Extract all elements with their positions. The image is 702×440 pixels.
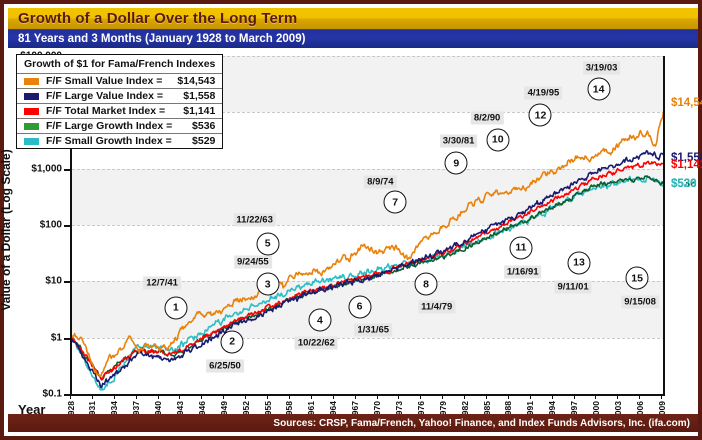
- annotation-marker[interactable]: 15: [626, 267, 649, 290]
- x-tick-mark: [639, 394, 640, 399]
- series-end-label: $529: [671, 178, 697, 190]
- plot-right-border: [663, 56, 665, 394]
- x-tick-mark: [179, 394, 180, 399]
- x-tick-mark: [574, 394, 575, 399]
- annotation-marker[interactable]: 10: [486, 128, 509, 151]
- title-bar: Growth of a Dollar Over the Long Term: [8, 8, 698, 30]
- x-tick-mark: [377, 394, 378, 399]
- annotation-marker[interactable]: 1: [164, 296, 187, 319]
- x-tick-mark: [442, 394, 443, 399]
- annotation-date-label: 9/15/08: [621, 296, 659, 309]
- x-tick-mark: [552, 394, 553, 399]
- x-tick-mark: [661, 394, 662, 399]
- annotation-date-label: 11/4/79: [418, 300, 455, 313]
- annotation-date-label: 4/19/95: [525, 86, 563, 99]
- annotation-marker[interactable]: 5: [256, 232, 279, 255]
- annotation-date-label: 8/9/74: [364, 175, 396, 188]
- chart-area: Value of a Dollar (Log Scale) Year $100,…: [8, 48, 698, 422]
- x-tick-mark: [355, 394, 356, 399]
- x-tick-mark: [398, 394, 399, 399]
- legend-color-swatch: [24, 108, 39, 115]
- series-end-label: $1,141: [671, 159, 702, 171]
- legend-row: F/F Small Growth Index =$529: [17, 134, 222, 148]
- x-tick-mark: [530, 394, 531, 399]
- x-tick-mark: [70, 394, 71, 399]
- legend-color-swatch: [24, 138, 39, 145]
- x-tick-mark: [223, 394, 224, 399]
- annotation-date-label: 12/7/41: [143, 277, 181, 290]
- y-tick-label: $0.1: [43, 389, 62, 400]
- x-tick-mark: [508, 394, 509, 399]
- annotation-date-label: 10/22/62: [295, 337, 338, 350]
- annotation-marker[interactable]: 14: [587, 78, 610, 101]
- legend-value: $14,543: [170, 75, 215, 87]
- y-tick-label: $1: [51, 332, 62, 343]
- annotation-date-label: 8/2/90: [471, 111, 503, 124]
- subtitle-bar: 81 Years and 3 Months (January 1928 to M…: [8, 30, 698, 48]
- legend-value: $529: [185, 135, 215, 147]
- sources-text: Sources: CRSP, Fama/French, Yahoo! Finan…: [273, 418, 690, 429]
- page-title: Growth of a Dollar Over the Long Term: [18, 10, 297, 27]
- annotation-marker[interactable]: 9: [445, 152, 468, 175]
- annotation-marker[interactable]: 13: [568, 251, 591, 274]
- annotation-date-label: 9/24/55: [234, 255, 272, 268]
- legend-label: F/F Small Value Index =: [46, 75, 162, 87]
- x-tick-mark: [420, 394, 421, 399]
- series-end-label: $14,543: [671, 97, 702, 109]
- annotation-date-label: 9/11/01: [554, 280, 591, 293]
- x-tick-mark: [311, 394, 312, 399]
- legend-color-swatch: [24, 78, 39, 85]
- x-tick-mark: [92, 394, 93, 399]
- annotation-date-label: 3/19/03: [583, 61, 621, 74]
- chart-frame: Growth of a Dollar Over the Long Term 81…: [0, 0, 702, 440]
- footer-bar: Sources: CRSP, Fama/French, Yahoo! Finan…: [8, 414, 698, 432]
- legend-value: $1,141: [176, 105, 215, 117]
- annotation-date-label: 3/30/81: [440, 135, 478, 148]
- y-axis-title: Value of a Dollar (Log Scale): [0, 149, 13, 310]
- legend-title: Growth of $1 for Fama/French Indexes: [17, 55, 222, 74]
- annotation-marker[interactable]: 2: [221, 330, 244, 353]
- annotation-marker[interactable]: 3: [256, 273, 279, 296]
- x-tick-mark: [201, 394, 202, 399]
- x-tick-mark: [158, 394, 159, 399]
- legend-label: F/F Large Value Index =: [46, 90, 163, 102]
- legend-label: F/F Total Market Index =: [46, 105, 165, 117]
- legend-label: F/F Small Growth Index =: [46, 135, 172, 147]
- annotation-marker[interactable]: 11: [509, 236, 532, 259]
- x-tick-mark: [464, 394, 465, 399]
- annotation-date-label: 11/22/63: [233, 213, 275, 226]
- legend-label: F/F Large Growth Index =: [46, 120, 172, 132]
- legend-row: F/F Large Growth Index =$536: [17, 119, 222, 134]
- x-tick-mark: [245, 394, 246, 399]
- legend-row: F/F Total Market Index =$1,141: [17, 104, 222, 119]
- annotation-marker[interactable]: 7: [384, 191, 407, 214]
- y-tick-label: $1,000: [31, 163, 62, 174]
- x-tick-mark: [136, 394, 137, 399]
- x-tick-mark: [267, 394, 268, 399]
- page-subtitle: 81 Years and 3 Months (January 1928 to M…: [18, 33, 305, 45]
- x-tick-mark: [617, 394, 618, 399]
- x-tick-mark: [486, 394, 487, 399]
- x-tick-mark: [114, 394, 115, 399]
- annotation-marker[interactable]: 8: [415, 273, 438, 296]
- annotation-date-label: 6/25/50: [206, 360, 244, 373]
- legend-rows: F/F Small Value Index =$14,543F/F Large …: [17, 74, 222, 148]
- annotation-marker[interactable]: 4: [308, 309, 331, 332]
- x-tick-mark: [333, 394, 334, 399]
- annotation-marker[interactable]: 12: [529, 104, 552, 127]
- legend-color-swatch: [24, 93, 39, 100]
- legend-value: $1,558: [176, 90, 215, 102]
- legend: Growth of $1 for Fama/French Indexes F/F…: [16, 54, 223, 149]
- legend-value: $536: [185, 120, 215, 132]
- legend-color-swatch: [24, 123, 39, 130]
- annotation-marker[interactable]: 6: [348, 295, 371, 318]
- annotation-date-label: 1/16/91: [504, 266, 542, 279]
- legend-row: F/F Large Value Index =$1,558: [17, 89, 222, 104]
- legend-row: F/F Small Value Index =$14,543: [17, 74, 222, 89]
- x-tick-mark: [289, 394, 290, 399]
- y-tick-label: $100: [40, 220, 62, 231]
- x-tick-mark: [595, 394, 596, 399]
- y-tick-label: $10: [45, 276, 62, 287]
- annotation-date-label: 1/31/65: [354, 324, 392, 337]
